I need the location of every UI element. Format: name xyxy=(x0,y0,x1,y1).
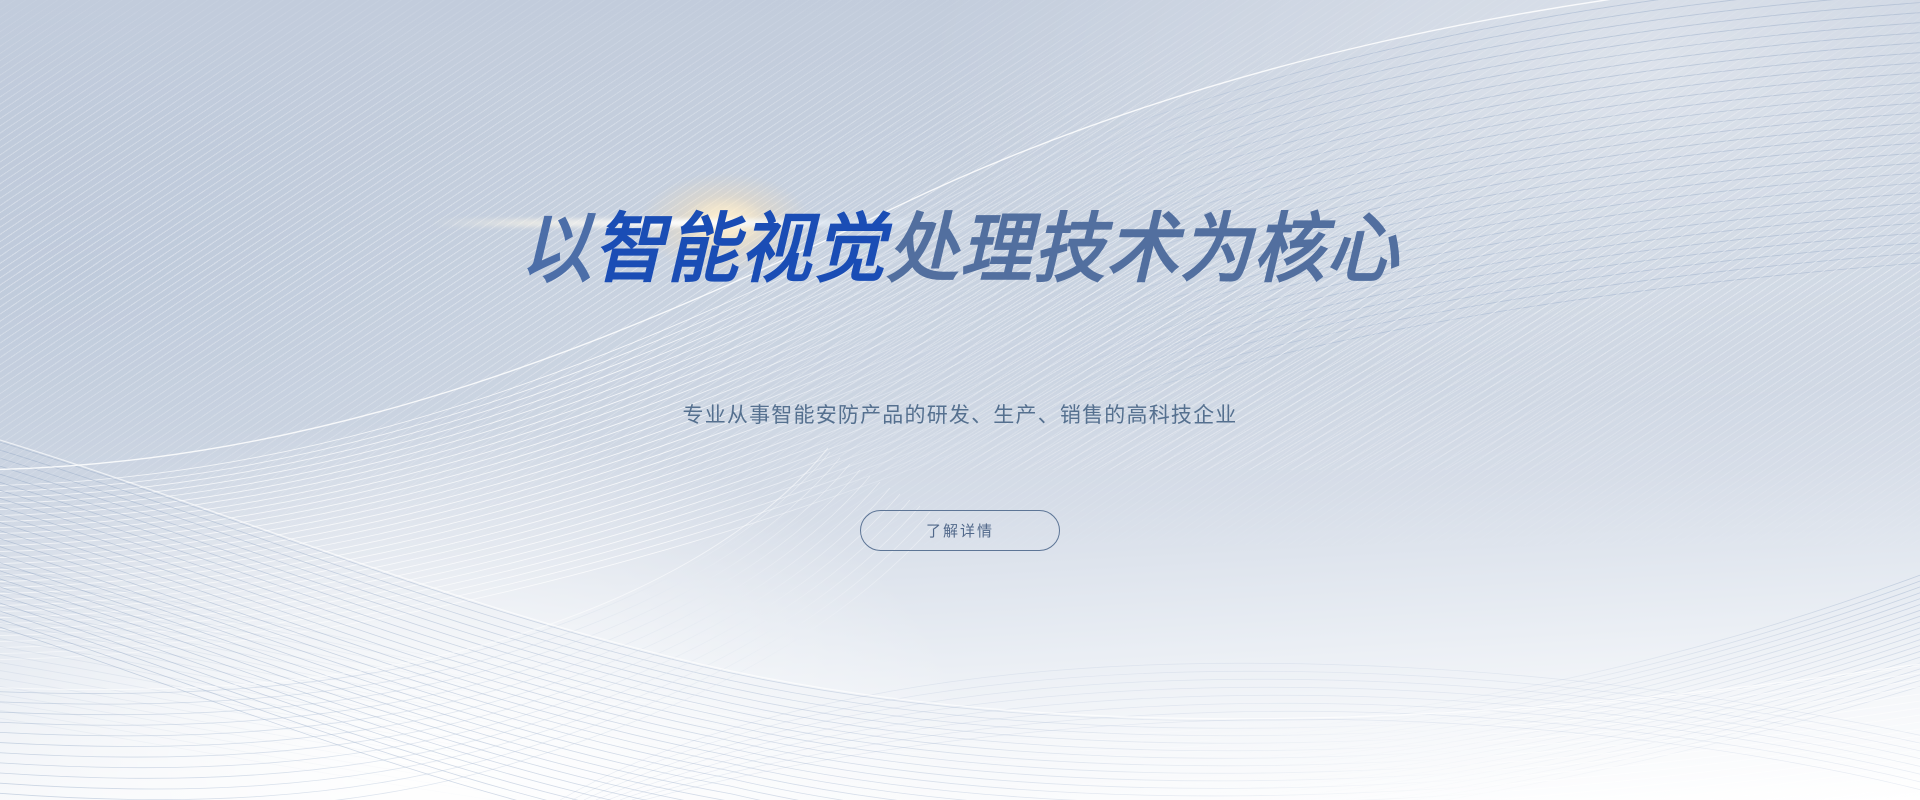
page-title: 以智能视觉处理技术为核心 xyxy=(58,208,1863,290)
headline-segment-1: 以 xyxy=(520,204,593,293)
hero-content: 以智能视觉处理技术为核心 专业从事智能安防产品的研发、生产、销售的高科技企业 了… xyxy=(0,0,1920,800)
page-subtitle: 专业从事智能安防产品的研发、生产、销售的高科技企业 xyxy=(0,399,1920,429)
headline-segment-2: 智能视觉 xyxy=(593,204,886,293)
headline-segment-3: 处理技术为核心 xyxy=(887,204,1400,293)
learn-more-button[interactable]: 了解详情 xyxy=(860,510,1060,551)
hero-banner: 以智能视觉处理技术为核心 专业从事智能安防产品的研发、生产、销售的高科技企业 了… xyxy=(0,0,1920,800)
